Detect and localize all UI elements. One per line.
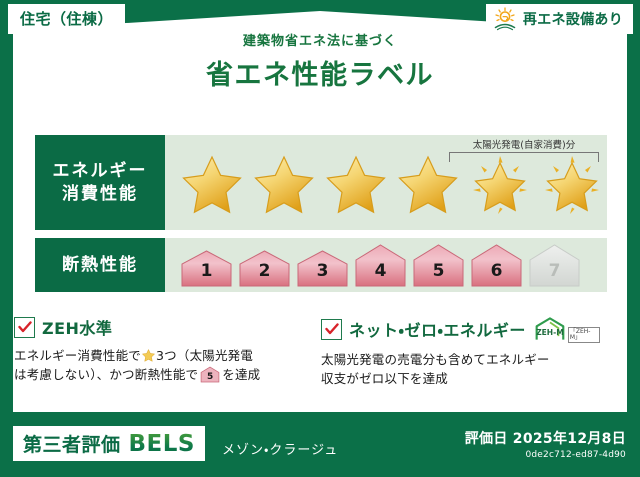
renewable-badge-label: 再エネ設備あり bbox=[523, 9, 623, 29]
energy-performance-body: 太陽光発電(自家消費)分 bbox=[165, 135, 607, 230]
criteria-section: ZEH水準 エネルギー消費性能で3つ（太陽光発電 は考慮しない）、かつ断熱性能で… bbox=[0, 315, 614, 389]
criterion-net-zero: ネット・ゼロ・エネルギー ZEH-M 「ZEH-M」 太陽光発電の売電分も含めて… bbox=[307, 315, 614, 389]
grade-badge: 6 bbox=[469, 243, 524, 288]
evaluation-date: 評価日 2025年12月8日 bbox=[465, 428, 626, 448]
criterion-zeh-text1: エネルギー消費性能で bbox=[14, 348, 141, 363]
criterion-net-zero-body: 太陽光発電の売電分も含めてエネルギー 収支がゼロ以下を達成 bbox=[321, 350, 600, 389]
criterion-net-zero-line1: 太陽光発電の売電分も含めてエネルギー bbox=[321, 352, 550, 367]
energy-label-line1: エネルギー bbox=[53, 160, 148, 183]
title-main: 省エネ性能ラベル bbox=[0, 53, 640, 92]
solar-bracket bbox=[449, 152, 599, 162]
star-icon-inline bbox=[141, 348, 156, 363]
evaluation-info: 評価日 2025年12月8日 0de2c712-ed87-4d90 bbox=[465, 428, 626, 460]
criterion-zeh-text4: を達成 bbox=[222, 367, 260, 382]
bels-jp-label: 第三者評価 bbox=[23, 430, 121, 457]
grade-value: 2 bbox=[237, 261, 292, 281]
criterion-zeh-title: ZEH水準 bbox=[42, 315, 112, 339]
zeh-m-logo: ZEH-M 「ZEH-M」 bbox=[534, 315, 600, 343]
grade-badge: 5 bbox=[411, 243, 466, 288]
grade-badge: 2 bbox=[237, 248, 292, 288]
star-icon bbox=[177, 150, 247, 220]
energy-performance-label-box: エネルギー 消費性能 bbox=[35, 135, 165, 230]
grade-value: 4 bbox=[353, 261, 408, 281]
grade-value: 1 bbox=[179, 261, 234, 281]
bels-chip: 第三者評価 BELS bbox=[13, 426, 205, 461]
criterion-net-zero-header: ネット・ゼロ・エネルギー ZEH-M 「ZEH-M」 bbox=[321, 315, 600, 343]
grade-badge: 4 bbox=[353, 243, 408, 288]
grade-scale: 1 2 3 4 5 bbox=[165, 243, 582, 288]
insulation-performance-label-box: 断熱性能 bbox=[35, 238, 165, 292]
solar-annotation-label: 太陽光発電(自家消費)分 bbox=[449, 137, 599, 151]
svg-text:ZEH-M: ZEH-M bbox=[536, 328, 564, 337]
criterion-zeh: ZEH水準 エネルギー消費性能で3つ（太陽光発電 は考慮しない）、かつ断熱性能で… bbox=[0, 315, 307, 389]
footer: 第三者評価 BELS メゾン・クラージュ 評価日 2025年12月8日 0de2… bbox=[0, 412, 640, 477]
grade-badge: 1 bbox=[179, 248, 234, 288]
energy-label-line2: 消費性能 bbox=[62, 183, 138, 206]
property-name: メゾン・クラージュ bbox=[222, 439, 338, 458]
bels-en-label: BELS bbox=[129, 431, 195, 457]
evaluation-id: 0de2c712-ed87-4d90 bbox=[465, 450, 626, 460]
renewable-equipment-chip: 再エネ設備あり bbox=[486, 4, 633, 34]
criterion-zeh-body: エネルギー消費性能で3つ（太陽光発電 は考慮しない）、かつ断熱性能で5を達成 bbox=[14, 346, 293, 385]
zeh-m-caption: 「ZEH-M」 bbox=[568, 327, 600, 343]
grade-badge: 3 bbox=[295, 248, 350, 288]
criterion-zeh-text2: 3つ（太陽光発電 bbox=[156, 348, 253, 363]
check-icon bbox=[321, 319, 342, 340]
housing-type-label: 住宅（住棟） bbox=[20, 10, 113, 28]
solar-sun-icon bbox=[492, 7, 518, 31]
performance-rows: エネルギー 消費性能 bbox=[35, 135, 607, 300]
grade-value: 5 bbox=[411, 261, 466, 281]
grade-value: 6 bbox=[469, 261, 524, 281]
grade-badge-inline: 5 bbox=[200, 366, 220, 383]
insulation-label: 断熱性能 bbox=[62, 254, 138, 277]
energy-performance-label: 住宅（住棟） 再エネ設備あり 建築 bbox=[0, 0, 640, 477]
criterion-net-zero-title: ネット・ゼロ・エネルギー bbox=[349, 317, 526, 341]
energy-performance-row: エネルギー 消費性能 bbox=[35, 135, 607, 230]
solar-annotation: 太陽光発電(自家消費)分 bbox=[449, 137, 599, 162]
grade-value: 7 bbox=[527, 261, 582, 281]
grade-value: 3 bbox=[295, 261, 350, 281]
page-title: 建築物省エネ法に基づく 省エネ性能ラベル bbox=[0, 30, 640, 92]
grade-value-inline: 5 bbox=[200, 373, 220, 382]
check-icon bbox=[14, 317, 35, 338]
grade-badge-inactive: 7 bbox=[527, 243, 582, 288]
star-icon bbox=[249, 150, 319, 220]
insulation-performance-row: 断熱性能 1 2 3 bbox=[35, 238, 607, 292]
criterion-zeh-text3: は考慮しない）、かつ断熱性能で bbox=[14, 367, 198, 382]
insulation-performance-body: 1 2 3 4 5 bbox=[165, 238, 607, 292]
housing-type-chip: 住宅（住棟） bbox=[8, 4, 125, 34]
star-icon bbox=[321, 150, 391, 220]
criterion-net-zero-line2: 収支がゼロ以下を達成 bbox=[321, 371, 448, 386]
criterion-zeh-header: ZEH水準 bbox=[14, 315, 293, 339]
